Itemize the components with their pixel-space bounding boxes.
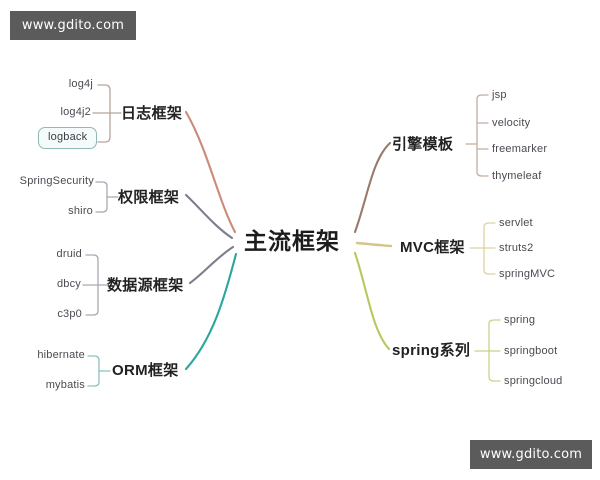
leaf-node-spring[interactable]: spring — [504, 315, 535, 326]
branch-node-mvc[interactable]: MVC框架 — [400, 240, 465, 255]
bracket-logging — [98, 85, 110, 113]
watermark-bottom-right: www.gdito.com — [470, 440, 592, 469]
curve-logging — [186, 112, 235, 232]
leaf-node-c3p0[interactable]: c3p0 — [0, 309, 82, 320]
leaf-node-log4j[interactable]: log4j — [0, 79, 93, 90]
bracket-logging-2 — [98, 113, 110, 142]
bracket-permission-2 — [96, 197, 107, 212]
leaf-node-thymeleaf[interactable]: thymeleaf — [492, 171, 542, 182]
branch-node-spring[interactable]: spring系列 — [392, 343, 470, 358]
leaf-node-dbcy[interactable]: dbcy — [0, 279, 81, 290]
leaf-node-springmvc[interactable]: springMVC — [499, 269, 555, 280]
watermark-top-left: www.gdito.com — [10, 11, 136, 40]
bracket-datasource-2 — [86, 285, 98, 315]
leaf-node-druid[interactable]: druid — [0, 249, 82, 260]
bracket-mvc — [484, 223, 495, 248]
curve-template-engine — [355, 143, 390, 232]
leaf-node-springboot[interactable]: springboot — [504, 346, 557, 357]
bracket-permission — [96, 182, 107, 197]
leaf-node-mybatis[interactable]: mybatis — [0, 380, 85, 391]
branch-node-orm[interactable]: ORM框架 — [112, 363, 179, 378]
leaf-node-springcloud[interactable]: springcloud — [504, 376, 562, 387]
bracket-template-engine — [477, 95, 488, 144]
leaf-node-hibernate[interactable]: hibernate — [0, 350, 85, 361]
curve-mvc — [357, 243, 391, 246]
center-node[interactable]: 主流框架 — [244, 230, 340, 253]
mindmap-canvas: 主流框架 日志框架 权限框架 数据源框架 ORM框架 log4j log4j2 … — [0, 0, 600, 480]
leaf-node-jsp[interactable]: jsp — [492, 90, 507, 101]
bracket-spring-2 — [489, 351, 500, 381]
branch-node-logging[interactable]: 日志框架 — [121, 106, 182, 121]
bracket-template-engine-2 — [477, 144, 488, 176]
curve-orm — [186, 254, 236, 369]
bracket-mvc-2 — [484, 248, 495, 274]
leaf-node-springsecurity[interactable]: SpringSecurity — [0, 176, 94, 187]
leaf-node-log4j2[interactable]: log4j2 — [0, 107, 91, 118]
curve-permission — [186, 195, 232, 238]
leaf-node-freemarker[interactable]: freemarker — [492, 144, 547, 155]
branch-node-datasource[interactable]: 数据源框架 — [107, 278, 184, 293]
leaf-node-servlet[interactable]: servlet — [499, 218, 533, 229]
branch-node-permission[interactable]: 权限框架 — [118, 190, 179, 205]
bracket-spring — [489, 320, 500, 351]
leaf-node-struts2[interactable]: struts2 — [499, 243, 533, 254]
bracket-orm-2 — [88, 371, 99, 386]
bracket-datasource — [86, 255, 98, 285]
branch-node-template-engine[interactable]: 引擎模板 — [392, 137, 453, 152]
curve-datasource — [190, 247, 233, 283]
bracket-orm — [88, 356, 99, 371]
leaf-node-velocity[interactable]: velocity — [492, 118, 530, 129]
leaf-node-logback[interactable]: logback — [38, 127, 97, 149]
leaf-node-shiro[interactable]: shiro — [0, 206, 93, 217]
curve-spring — [355, 253, 389, 349]
